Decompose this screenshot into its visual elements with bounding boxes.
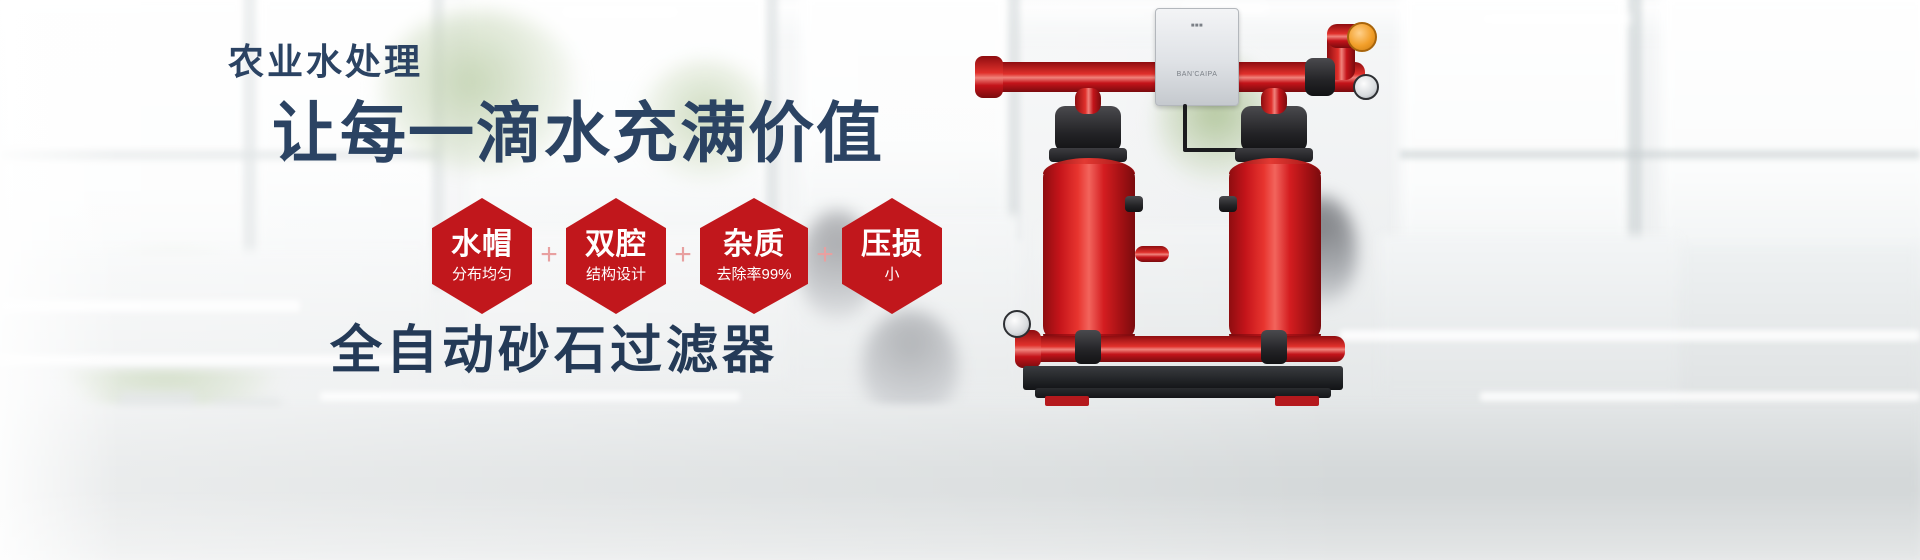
controller-brand-label: BAN'CAIPA xyxy=(1156,71,1238,78)
banner-eyebrow: 农业水处理 xyxy=(228,44,423,80)
feature-badge-2-title: 双腔 xyxy=(585,230,647,260)
feature-badge-row: 水帽 分布均匀 + 双腔 结构设计 + 杂质 去除率99% + 压损 小 xyxy=(432,196,942,316)
feature-badge-3: 杂质 去除率99% xyxy=(700,198,808,314)
feature-badge-1-title: 水帽 xyxy=(451,230,513,260)
plus-separator-1: + xyxy=(532,240,566,272)
feature-badge-4-subtitle: 小 xyxy=(884,267,899,282)
banner-subheadline: 全自动砂石过滤器 xyxy=(330,325,778,377)
feature-badge-2: 双腔 结构设计 xyxy=(566,198,666,314)
banner-headline: 让每一滴水充满价值 xyxy=(272,100,884,166)
feature-badge-4-title: 压损 xyxy=(861,230,923,260)
plus-separator-3: + xyxy=(808,240,842,272)
feature-badge-3-title: 杂质 xyxy=(723,230,785,260)
feature-badge-1: 水帽 分布均匀 xyxy=(432,198,532,314)
feature-badge-3-subtitle: 去除率99% xyxy=(716,267,791,282)
bottom-edge-fade xyxy=(0,490,1920,560)
product-image-sand-filter: ■■■ BAN'CAIPA xyxy=(975,0,1425,440)
banner-copy: 农业水处理 让每一滴水充满价值 水帽 分布均匀 + 双腔 结构设计 + 杂质 去… xyxy=(0,0,1000,560)
promo-banner: ■■■ BAN'CAIPA xyxy=(0,0,1920,560)
left-edge-fade xyxy=(0,0,120,560)
feature-badge-1-subtitle: 分布均匀 xyxy=(452,267,512,282)
filter-tank-right xyxy=(1229,164,1321,340)
feature-badge-2-subtitle: 结构设计 xyxy=(586,267,646,282)
feature-badge-4: 压损 小 xyxy=(842,198,942,314)
controller-box: ■■■ BAN'CAIPA xyxy=(1155,8,1239,106)
plus-separator-2: + xyxy=(666,240,700,272)
filter-tank-left xyxy=(1043,164,1135,340)
